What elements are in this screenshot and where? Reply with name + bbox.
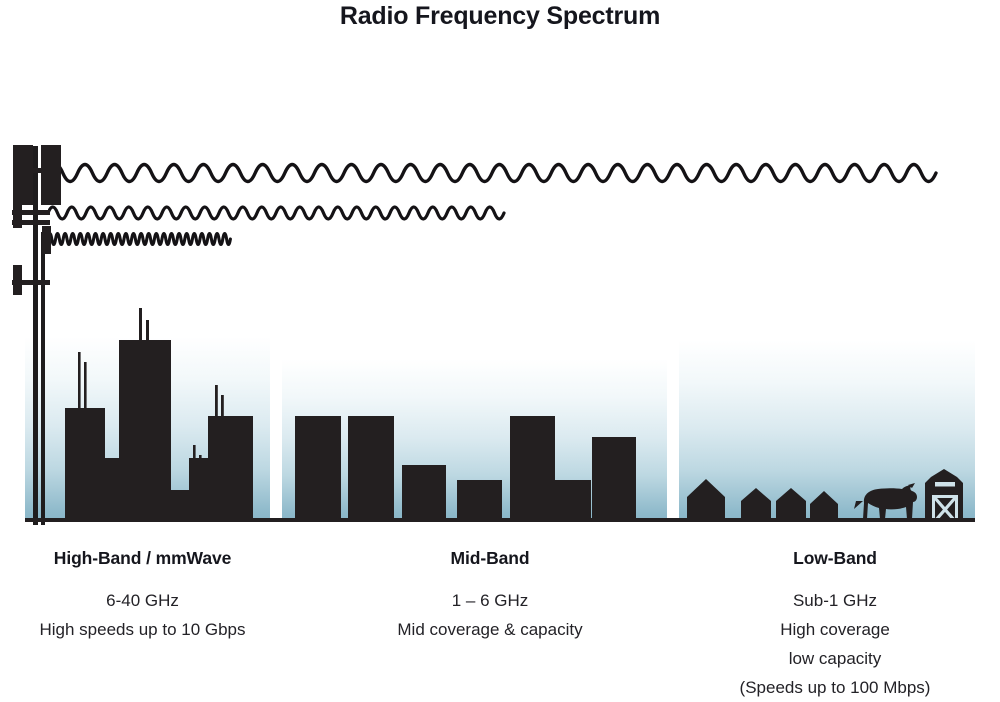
house-3 [776, 488, 806, 521]
barn [925, 469, 963, 521]
house-2 [741, 488, 771, 521]
skyline-mid-band [282, 410, 668, 522]
house-1 [687, 479, 725, 521]
ground-line [25, 518, 975, 522]
band-caption-high: High-Band / mmWave 6-40 GHz High speeds … [0, 548, 285, 644]
band-description-high: 6-40 GHz High speeds up to 10 Gbps [0, 586, 285, 644]
band-detail-low-1: High coverage [690, 615, 980, 644]
band-detail-low-3: (Speeds up to 100 Mbps) [690, 673, 980, 702]
band-frequency-mid: 1 – 6 GHz [345, 586, 635, 615]
band-frequency-high: 6-40 GHz [0, 586, 285, 615]
antenna-crossarm-1 [33, 168, 43, 173]
high-band-wave [48, 224, 248, 254]
infographic-canvas: Radio Frequency Spectrum [0, 0, 1000, 700]
low-band-wave [48, 150, 988, 196]
band-title-mid: Mid-Band [345, 548, 635, 569]
cow-silhouette [854, 483, 917, 519]
page-title: Radio Frequency Spectrum [0, 2, 1000, 31]
band-detail-high-1: High speeds up to 10 Gbps [0, 615, 285, 644]
band-caption-mid: Mid-Band 1 – 6 GHz Mid coverage & capaci… [345, 548, 635, 644]
band-frequency-low: Sub-1 GHz [690, 586, 980, 615]
antenna-crossarm-3 [12, 220, 50, 225]
band-description-low: Sub-1 GHz High coverage low capacity (Sp… [690, 586, 980, 702]
rural-scene-low-band [679, 455, 975, 521]
skyline-high-band [25, 290, 275, 522]
band-detail-mid-1: Mid coverage & capacity [345, 615, 635, 644]
band-caption-low: Low-Band Sub-1 GHz High coverage low cap… [690, 548, 980, 702]
antenna-panel-4 [42, 226, 51, 254]
house-4 [810, 491, 838, 521]
antenna-panel-2 [41, 145, 61, 205]
band-description-mid: 1 – 6 GHz Mid coverage & capacity [345, 586, 635, 644]
antenna-panel-5 [13, 265, 22, 295]
band-title-high: High-Band / mmWave [0, 548, 285, 569]
band-detail-low-2: low capacity [690, 644, 980, 673]
antenna-panel-1 [13, 145, 33, 205]
band-title-low: Low-Band [690, 548, 980, 569]
